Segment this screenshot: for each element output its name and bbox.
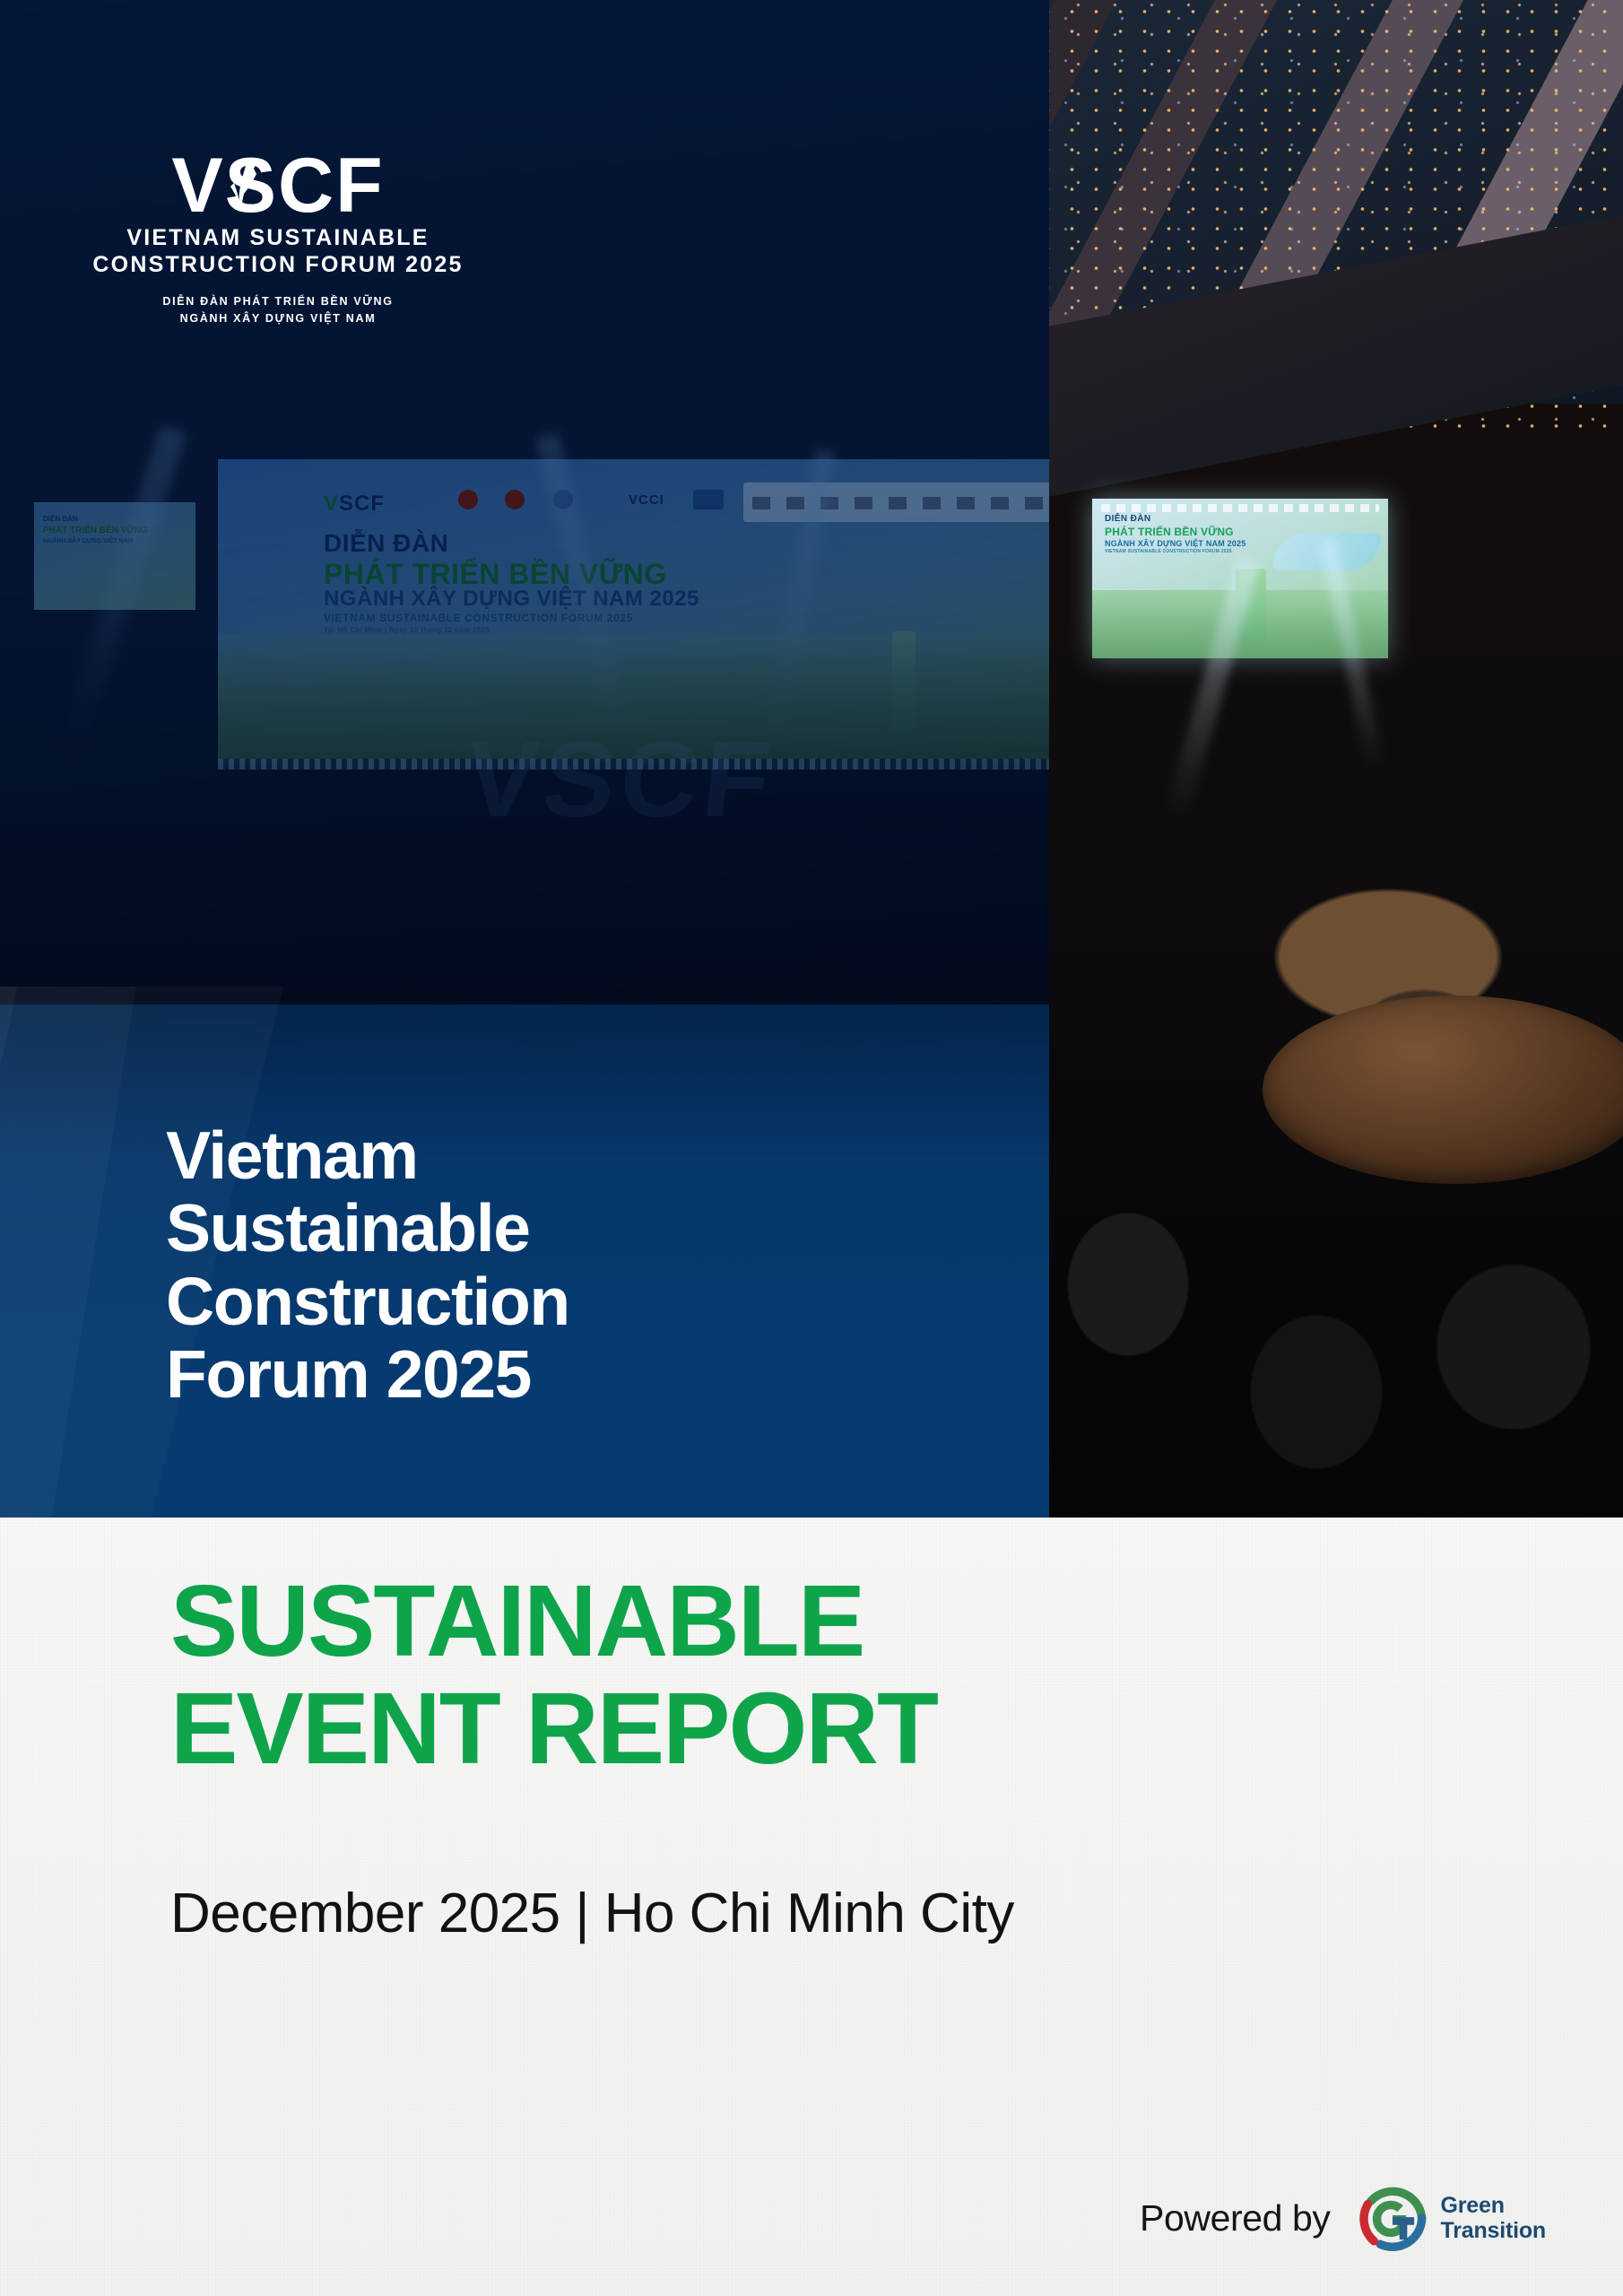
gt-name-line1: Green [1441, 2193, 1546, 2218]
side-screen-sponsor-strip [1101, 504, 1379, 512]
vscf-subtitle-vn-line1: DIỄN ĐÀN PHÁT TRIỂN BỀN VỮNG [90, 293, 466, 310]
report-date-location: December 2025 | Ho Chi Minh City [170, 1882, 1014, 1945]
footer-powered-by: Powered by Green Transition [1140, 2179, 1546, 2257]
hero-title-line1: Vietnam [166, 1119, 569, 1192]
vscf-subtitle-en-line2: CONSTRUCTION FORUM 2025 [90, 252, 466, 277]
hero-title-line3: Construction [166, 1265, 569, 1338]
hero-title-line4: Forum 2025 [166, 1338, 569, 1411]
report-headline-line2: EVENT REPORT [170, 1675, 937, 1783]
report-headline-line1: SUSTAINABLE [170, 1568, 937, 1675]
vscf-subtitle-en-line1: VIETNAM SUSTAINABLE [90, 225, 466, 250]
vscf-wordmark-text: VSCF [171, 143, 384, 229]
side-screen-line2: PHÁT TRIỂN BỀN VỮNG [1105, 526, 1234, 538]
gt-name-line2: Transition [1441, 2218, 1546, 2243]
report-headline: SUSTAINABLE EVENT REPORT [170, 1568, 937, 1783]
green-transition-wordmark: Green Transition [1441, 2193, 1546, 2243]
venue-photo-right: DIỄN ĐÀN PHÁT TRIỂN BỀN VỮNG NGÀNH XÂY D… [1047, 0, 1623, 1518]
green-transition-logo[interactable]: Green Transition [1354, 2179, 1546, 2257]
report-cover-page: DIỄN ĐÀN PHÁT TRIỂN BỀN VỮNG NGÀNH XÂY D… [0, 0, 1623, 2296]
hero-title: Vietnam Sustainable Construction Forum 2… [166, 1119, 569, 1412]
side-screen-line1: DIỄN ĐÀN [1105, 514, 1151, 524]
powered-by-label: Powered by [1140, 2197, 1331, 2239]
hero-title-line2: Sustainable [166, 1192, 569, 1265]
vscf-logo-lockup: VSCF VIETNAM SUSTAINABLE CONSTRUCTION FO… [90, 151, 466, 328]
hero-photo-band: DIỄN ĐÀN PHÁT TRIỂN BỀN VỮNG NGÀNH XÂY D… [0, 0, 1623, 1518]
side-screen-line4: VIETNAM SUSTAINABLE CONSTRUCTION FORUM 2… [1105, 549, 1232, 554]
vscf-subtitle-vn-line2: NGÀNH XÂY DỰNG VIỆT NAM [90, 310, 466, 327]
logo-divider [90, 285, 466, 287]
side-screen-line3: NGÀNH XÂY DỰNG VIỆT NAM 2025 [1105, 539, 1245, 548]
vscf-wordmark: VSCF [171, 151, 384, 222]
gt-circle-logo-icon [1354, 2179, 1431, 2257]
